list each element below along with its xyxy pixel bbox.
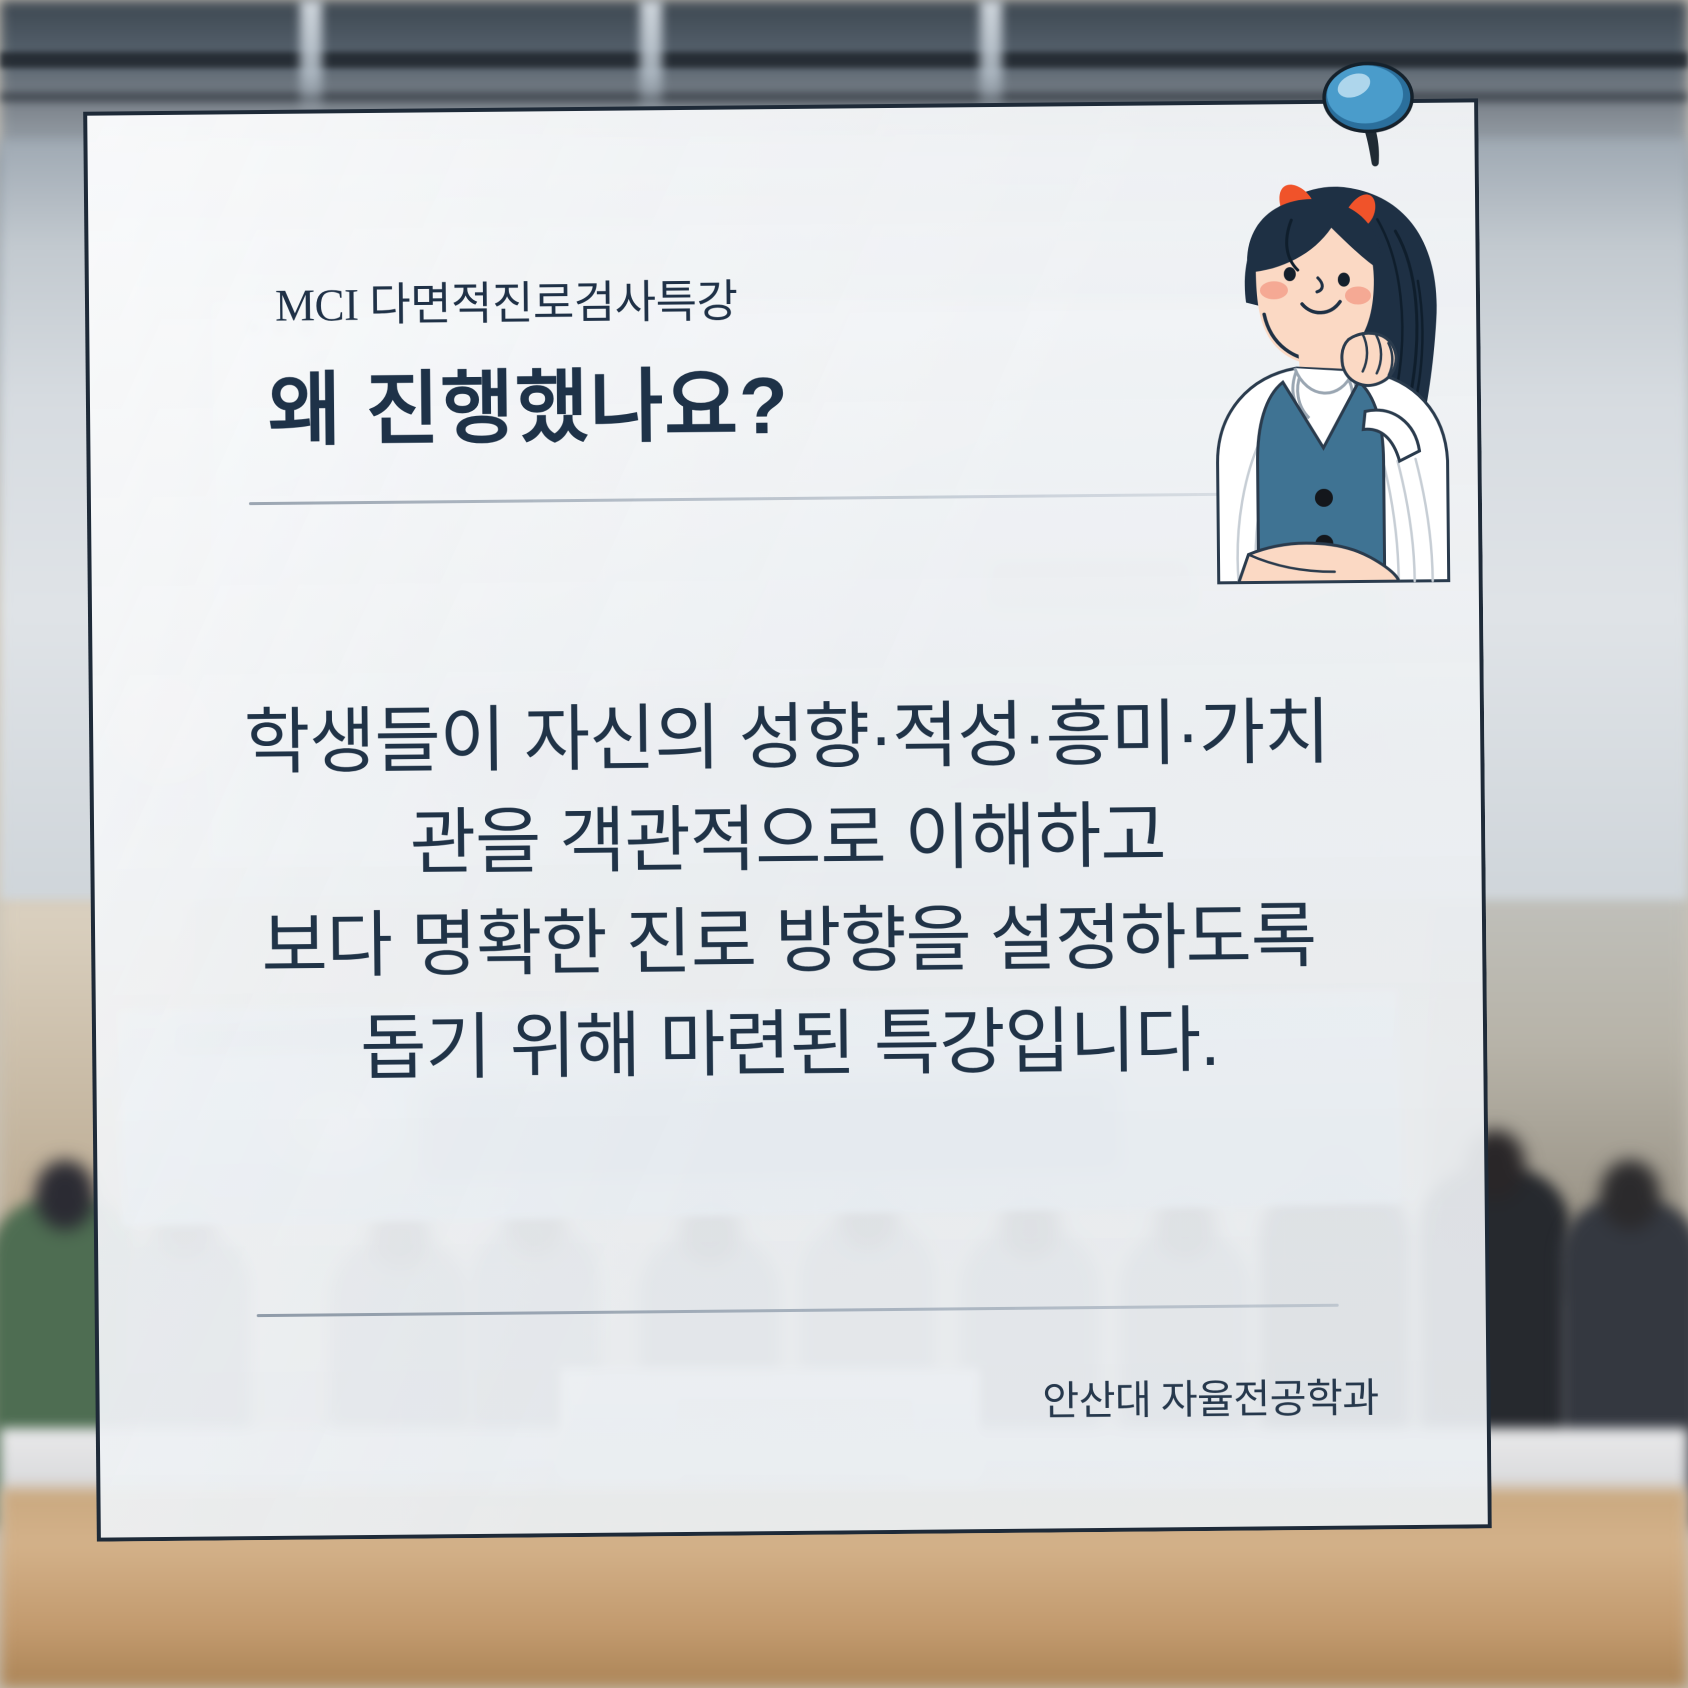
divider-bottom bbox=[257, 1304, 1339, 1317]
body-line-1: 학생들이 자신의 성향·적성·흥미·가치 bbox=[93, 680, 1481, 796]
blue-pushpin-icon bbox=[1308, 59, 1429, 170]
bg-ceiling-light-left bbox=[300, 0, 322, 120]
card-headline: 왜 진행했나요? bbox=[267, 341, 789, 462]
body-line-3: 보다 명확한 진로 방향을 설정하도록 bbox=[95, 885, 1483, 1001]
card-footer-credit: 안산대 자율전공학과 bbox=[1042, 1365, 1379, 1426]
body-line-4: 돕기 위해 마련된 특강입니다. bbox=[96, 987, 1484, 1103]
poster-stage: MCI 다면적진로검사특강 왜 진행했나요? bbox=[0, 0, 1688, 1688]
bg-ceiling-beam bbox=[0, 52, 1688, 68]
thinking-student-illustration bbox=[1095, 160, 1469, 584]
poster-card: MCI 다면적진로검사특강 왜 진행했나요? bbox=[83, 98, 1492, 1541]
poster-card-wrapper: MCI 다면적진로검사특강 왜 진행했나요? bbox=[83, 98, 1492, 1541]
bg-ceiling-light-mid bbox=[640, 0, 662, 120]
card-body-text: 학생들이 자신의 성향·적성·흥미·가치 관을 객관적으로 이해하고 보다 명확… bbox=[93, 680, 1484, 1102]
body-line-2: 관을 객관적으로 이해하고 bbox=[94, 783, 1482, 899]
card-eyebrow: MCI 다면적진로검사특강 bbox=[275, 264, 738, 333]
